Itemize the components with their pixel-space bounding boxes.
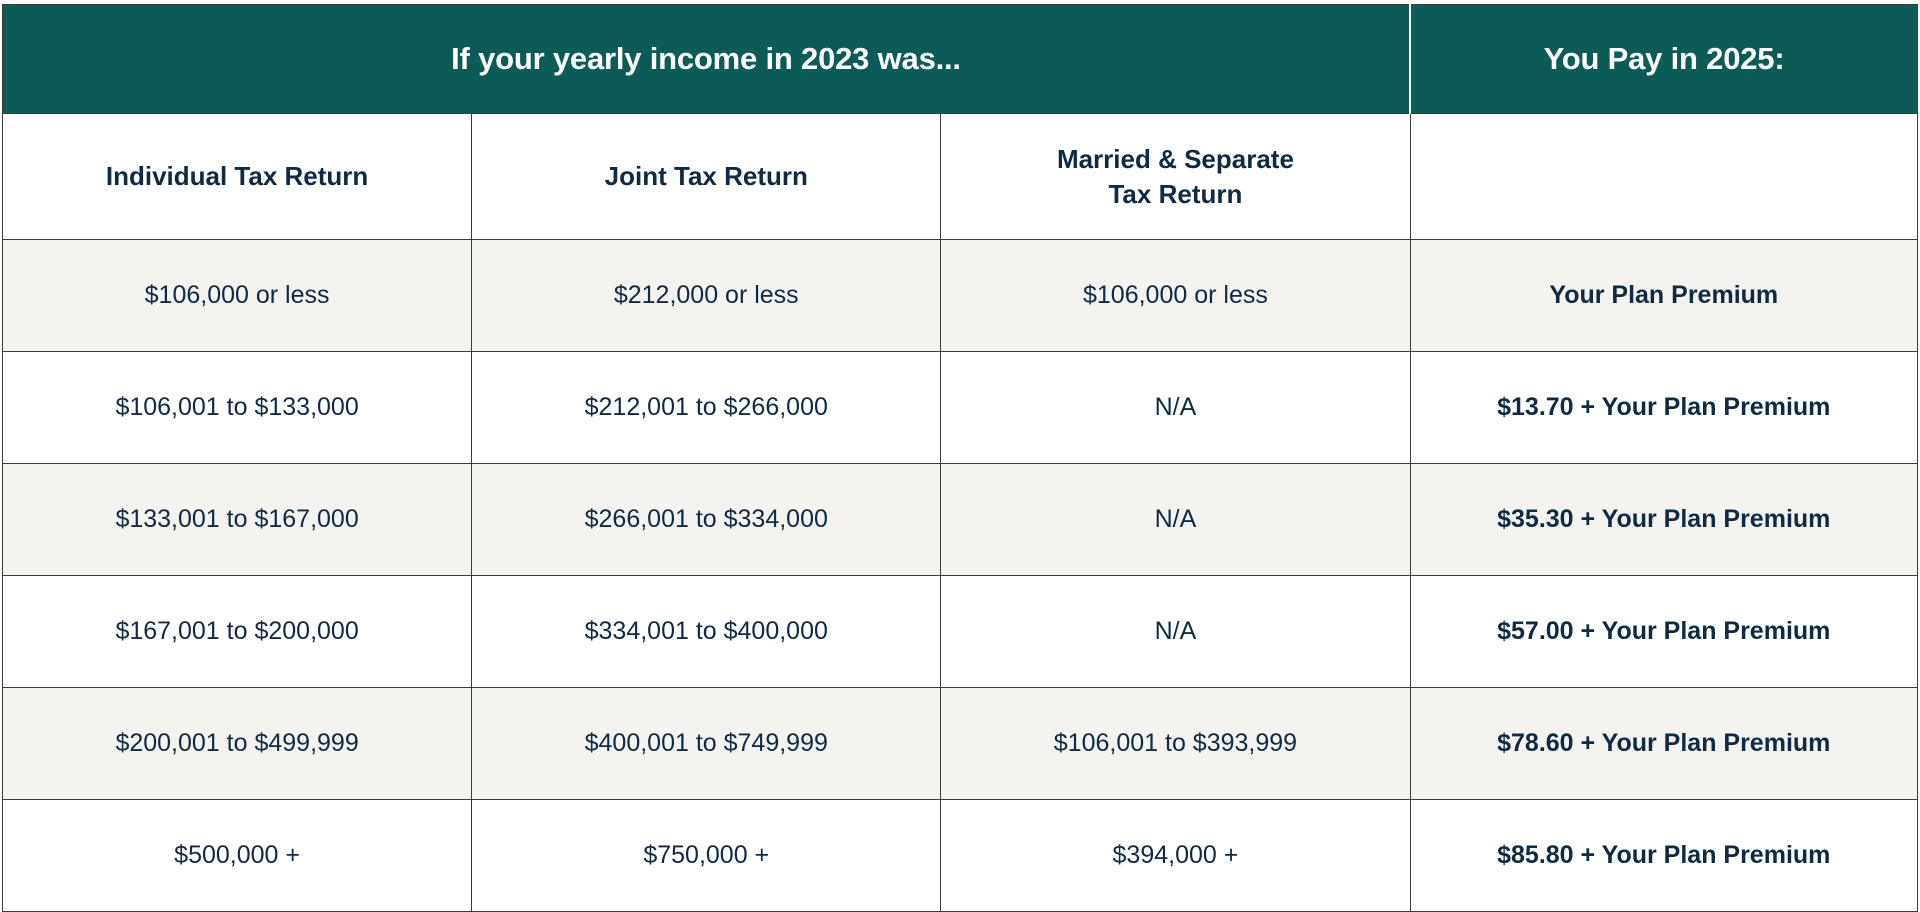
irmaa-premium-table: If your yearly income in 2023 was... You…	[2, 4, 1918, 912]
table-body: $106,000 or less$212,000 or less$106,000…	[3, 240, 1918, 912]
cell-you-pay: $57.00 + Your Plan Premium	[1410, 576, 1917, 688]
cell-individual-tax-return: $106,000 or less	[3, 240, 472, 352]
banner-header-row: If your yearly income in 2023 was... You…	[3, 5, 1918, 114]
cell-married-separate-tax-return: N/A	[941, 576, 1410, 688]
column-header-individual-tax-return: Individual Tax Return	[3, 114, 472, 240]
table-row: $500,000 +$750,000 +$394,000 +$85.80 + Y…	[3, 800, 1918, 912]
cell-individual-tax-return: $167,001 to $200,000	[3, 576, 472, 688]
cell-joint-tax-return: $266,001 to $334,000	[472, 464, 941, 576]
table-row: $106,001 to $133,000$212,001 to $266,000…	[3, 352, 1918, 464]
table-head: If your yearly income in 2023 was... You…	[3, 5, 1918, 240]
column-header-pay-blank	[1410, 114, 1917, 240]
cell-you-pay: $35.30 + Your Plan Premium	[1410, 464, 1917, 576]
cell-married-separate-tax-return: N/A	[941, 464, 1410, 576]
cell-married-separate-tax-return: $106,000 or less	[941, 240, 1410, 352]
cell-joint-tax-return: $212,001 to $266,000	[472, 352, 941, 464]
table-row: $167,001 to $200,000$334,001 to $400,000…	[3, 576, 1918, 688]
cell-you-pay: $85.80 + Your Plan Premium	[1410, 800, 1917, 912]
cell-individual-tax-return: $106,001 to $133,000	[3, 352, 472, 464]
cell-you-pay: Your Plan Premium	[1410, 240, 1917, 352]
cell-married-separate-tax-return: $106,001 to $393,999	[941, 688, 1410, 800]
pay-banner-heading: You Pay in 2025:	[1410, 5, 1917, 114]
cell-joint-tax-return: $212,000 or less	[472, 240, 941, 352]
irmaa-premium-table-container: If your yearly income in 2023 was... You…	[0, 0, 1920, 877]
cell-you-pay: $13.70 + Your Plan Premium	[1410, 352, 1917, 464]
table-row: $106,000 or less$212,000 or less$106,000…	[3, 240, 1918, 352]
column-header-row: Individual Tax Return Joint Tax Return M…	[3, 114, 1918, 240]
column-header-joint-tax-return: Joint Tax Return	[472, 114, 941, 240]
cell-individual-tax-return: $133,001 to $167,000	[3, 464, 472, 576]
cell-individual-tax-return: $200,001 to $499,999	[3, 688, 472, 800]
cell-you-pay: $78.60 + Your Plan Premium	[1410, 688, 1917, 800]
column-header-married-separate-line1: Married & Separate	[1057, 144, 1294, 174]
table-row: $200,001 to $499,999$400,001 to $749,999…	[3, 688, 1918, 800]
cell-married-separate-tax-return: N/A	[941, 352, 1410, 464]
column-header-married-separate-tax-return: Married & Separate Tax Return	[941, 114, 1410, 240]
income-banner-heading: If your yearly income in 2023 was...	[3, 5, 1411, 114]
cell-joint-tax-return: $750,000 +	[472, 800, 941, 912]
cell-married-separate-tax-return: $394,000 +	[941, 800, 1410, 912]
cell-individual-tax-return: $500,000 +	[3, 800, 472, 912]
table-row: $133,001 to $167,000$266,001 to $334,000…	[3, 464, 1918, 576]
cell-joint-tax-return: $400,001 to $749,999	[472, 688, 941, 800]
column-header-married-separate-line2: Tax Return	[1108, 179, 1242, 209]
cell-joint-tax-return: $334,001 to $400,000	[472, 576, 941, 688]
